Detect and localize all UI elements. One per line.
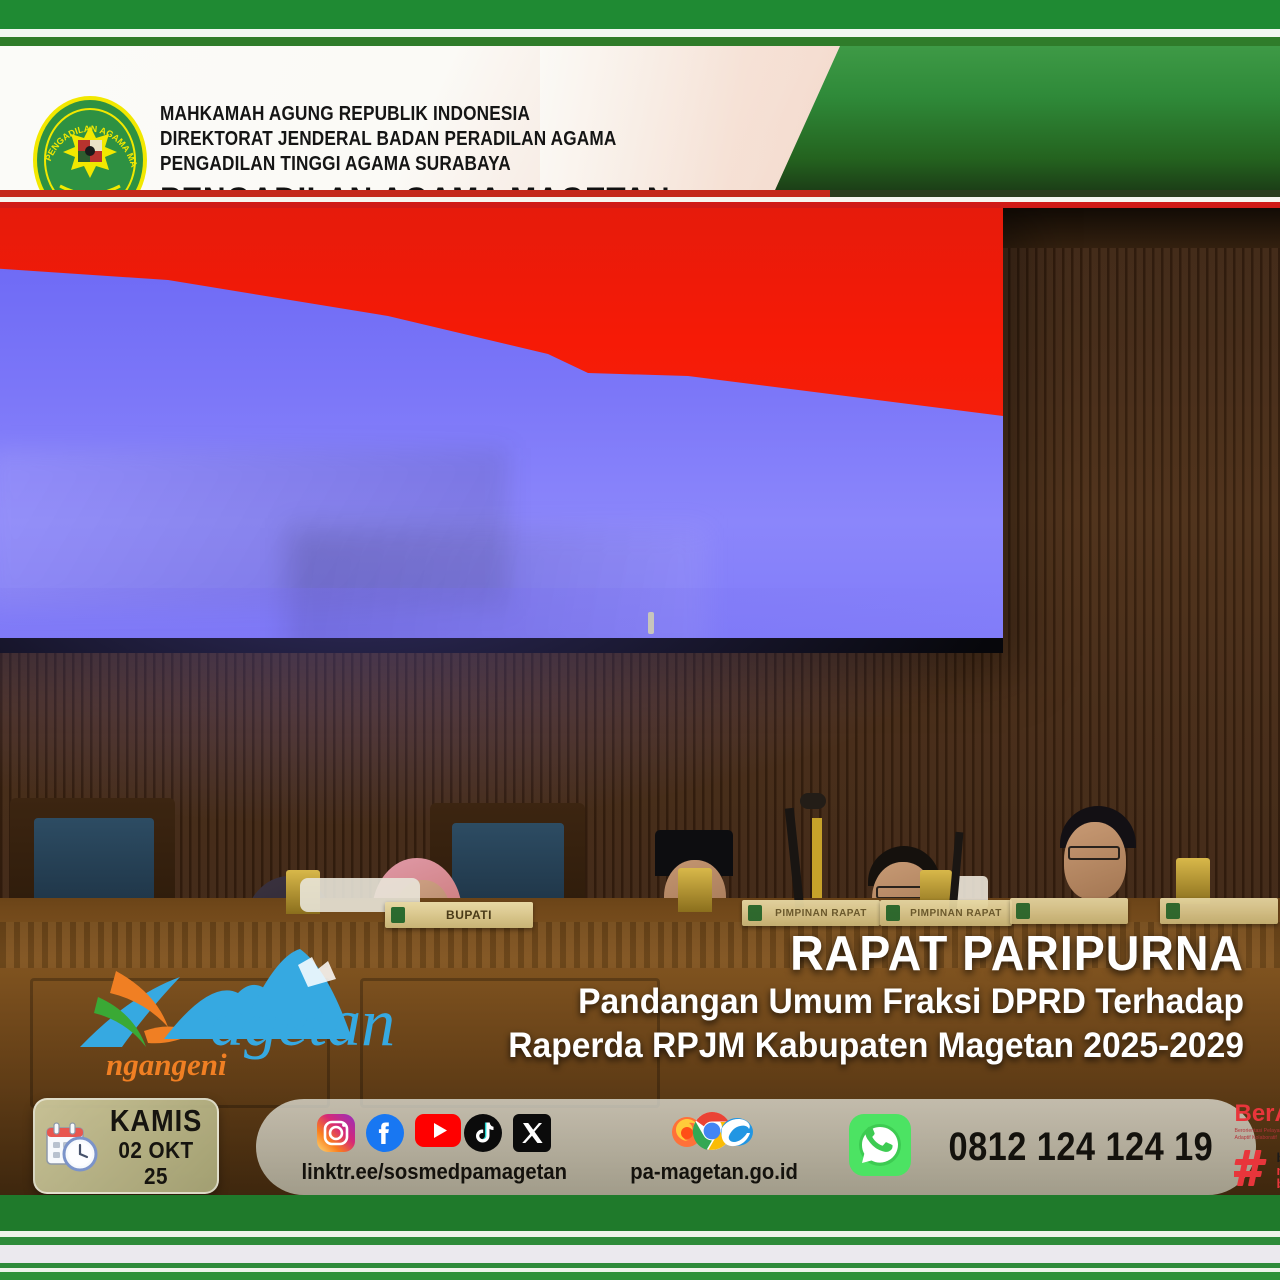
bottom-white-band — [0, 1245, 1280, 1263]
facebook-icon[interactable] — [366, 1114, 404, 1152]
desk-ornament-2 — [678, 868, 712, 912]
whatsapp-icon[interactable] — [849, 1114, 911, 1181]
social-icons-row — [317, 1110, 551, 1156]
footer-contact-bar: linktr.ee/sosmedpamagetan — [256, 1099, 1256, 1195]
youtube-icon[interactable] — [415, 1114, 453, 1152]
poster-canvas: PENGADILAN AGAMA MAGETAN PA MAGETAN MAHK… — [0, 0, 1280, 1280]
berakhlak-line-2: melayani — [1276, 1164, 1280, 1177]
internet-explorer-icon[interactable] — [720, 1116, 754, 1153]
bottom-green-line-3 — [0, 1272, 1280, 1280]
date-text-block: KAMIS 02 OKT 25 — [103, 1104, 209, 1189]
calendar-clock-icon — [43, 1118, 99, 1174]
event-subtitle-line-2: Raperda RPJM Kabupaten Magetan 2025-2029 — [486, 1024, 1244, 1068]
whatsapp-group: 0812 124 124 19 — [849, 1114, 1235, 1181]
event-title: RAPAT PARIPURNA — [494, 928, 1245, 980]
tiktok-icon[interactable] — [464, 1114, 502, 1152]
top-green-band-2 — [0, 37, 1280, 46]
berakhlak-title: BerAKHLAK — [1234, 1100, 1280, 1127]
date-value: 02 OKT 25 — [108, 1137, 203, 1189]
screen-glow — [0, 588, 1010, 828]
projection-screen — [0, 208, 1003, 653]
court-seal-logo: PENGADILAN AGAMA MAGETAN PA MAGETAN — [30, 94, 150, 190]
event-subtitle-line-1: Pandangan Umum Fraksi DPRD Terhadap — [486, 980, 1244, 1024]
website-group: pa-magetan.go.id — [623, 1110, 805, 1185]
title-block: RAPAT PARIPURNA Pandangan Umum Fraksi DP… — [454, 928, 1244, 1068]
top-green-band — [0, 0, 1280, 29]
browser-icons-row — [670, 1110, 758, 1156]
social-media-group: linktr.ee/sosmedpamagetan — [290, 1110, 579, 1185]
x-twitter-icon[interactable] — [513, 1114, 551, 1152]
berakhlak-line-1: bangga — [1276, 1151, 1280, 1164]
header-line-1: MAHKAMAH AGUNG REPUBLIK INDONESIA — [160, 102, 647, 127]
desk-post — [812, 818, 822, 898]
header-line-3: PENGADILAN TINGGI AGAMA SURABAYA — [160, 152, 647, 177]
date-day-name: KAMIS — [109, 1104, 202, 1137]
bottom-green-band — [0, 1195, 1280, 1231]
header-title-block: MAHKAMAH AGUNG REPUBLIK INDONESIA DIREKT… — [160, 102, 727, 190]
header-main-title: PENGADILAN AGAMA MAGETAN — [160, 181, 670, 190]
hashtag-icon — [1234, 1148, 1270, 1193]
microphone-head — [800, 793, 826, 809]
bottom-green-line-1 — [0, 1237, 1280, 1245]
top-white-band — [0, 29, 1280, 37]
header-bar: PENGADILAN AGAMA MAGETAN PA MAGETAN MAHK… — [0, 46, 1280, 190]
berakhlak-subtitle: Berorientasi Pelayanan Akuntabel Kompete… — [1234, 1128, 1280, 1142]
berakhlak-line-3: bangsa — [1276, 1177, 1280, 1190]
instagram-icon[interactable] — [317, 1114, 355, 1152]
whatsapp-number: 0812 124 124 19 — [948, 1125, 1213, 1170]
date-badge: KAMIS 02 OKT 25 — [33, 1098, 219, 1194]
social-link-label: linktr.ee/sosmedpamagetan — [302, 1159, 567, 1185]
berakhlak-logo: BerAKHLAK ➤ Berorientasi Pelayanan Akunt… — [1234, 1102, 1280, 1193]
website-label: pa-magetan.go.id — [630, 1159, 798, 1185]
svg-text:ngangeni: ngangeni — [106, 1047, 227, 1082]
header-line-2: DIREKTORAT JENDERAL BADAN PERADILAN AGAM… — [160, 127, 647, 152]
magetan-tourism-logo: agetan ngangeni agetan ngangeni — [60, 935, 460, 1085]
svg-text:agetan: agetan — [210, 984, 395, 1060]
red-stripe-1-dark-right — [830, 190, 1280, 197]
